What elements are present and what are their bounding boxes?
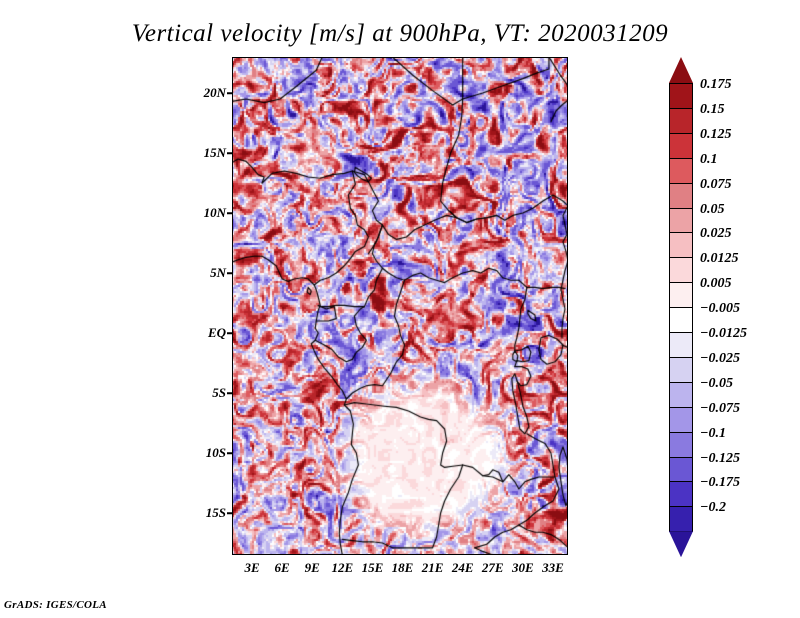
longitude-axis-labels: 3E6E9E12E15E18E21E24E27E30E33E [232,560,568,580]
colorbar-tick-label-9: −0.005 [700,301,740,317]
colorbar-min-arrow [669,531,693,557]
colorbar-tick-label-17: −0.2 [700,500,726,516]
latitude-tick-10s [227,452,232,454]
colorbar-block-6 [669,232,693,258]
colorbar-tick-label-7: 0.0125 [700,251,739,267]
colorbar-block-12 [669,382,693,408]
longitude-label-24e: 24E [452,560,474,576]
colorbar-tick-label-2: 0.125 [700,127,732,143]
colorbar-tick-label-11: −0.025 [700,351,740,367]
colorbar-block-7 [669,257,693,283]
latitude-label-5s: 5S [212,385,226,401]
latitude-label-eq: EQ [208,325,226,341]
colorbar-tick-label-1: 0.15 [700,102,725,118]
colorbar-block-0 [669,83,693,109]
colorbar-block-17 [669,506,693,532]
longitude-label-33e: 33E [542,560,564,576]
latitude-axis-labels: 20N15N10N5NEQ5S10S15S [196,57,226,555]
colorbar-block-11 [669,357,693,383]
latitude-tick-5s [227,392,232,394]
latitude-label-10s: 10S [206,445,226,461]
longitude-label-21e: 21E [422,560,444,576]
latitude-tick-marks [232,57,238,555]
colorbar-tick-label-8: 0.005 [700,276,732,292]
colorbar-tick-label-12: −0.05 [700,376,733,392]
longitude-label-12e: 12E [331,560,353,576]
colorbar-block-16 [669,481,693,507]
latitude-label-10n: 10N [204,205,226,221]
latitude-tick-eq [227,332,232,334]
colorbar-tick-label-6: 0.025 [700,226,732,242]
colorbar-block-1 [669,108,693,134]
colorbar-block-4 [669,183,693,209]
colorbar-block-3 [669,158,693,184]
latitude-label-15s: 15S [206,505,226,521]
latitude-tick-15s [227,512,232,514]
latitude-label-15n: 15N [204,145,226,161]
colorbar-block-13 [669,407,693,433]
colorbar-block-10 [669,332,693,358]
colorbar-tick-label-14: −0.1 [700,426,726,442]
latitude-tick-10n [227,212,232,214]
map-plot-area [232,57,568,555]
colorbar-tick-label-16: −0.175 [700,475,740,491]
longitude-label-18e: 18E [392,560,414,576]
colorbar [669,57,693,557]
longitude-label-15e: 15E [362,560,384,576]
colorbar-tick-label-10: −0.0125 [700,326,747,342]
colorbar-max-arrow [669,57,693,83]
colorbar-block-14 [669,432,693,458]
page-title: Vertical velocity [m/s] at 900hPa, VT: 2… [0,20,800,48]
grads-credit: GrADS: IGES/COLA [4,599,107,611]
colorbar-tick-label-15: −0.125 [700,451,740,467]
latitude-tick-20n [227,92,232,94]
colorbar-tick-label-5: 0.05 [700,202,725,218]
colorbar-block-9 [669,307,693,333]
longitude-label-30e: 30E [512,560,534,576]
longitude-label-6e: 6E [275,560,290,576]
longitude-label-3e: 3E [244,560,259,576]
colorbar-tick-label-3: 0.1 [700,152,718,168]
longitude-label-9e: 9E [305,560,320,576]
longitude-label-27e: 27E [482,560,504,576]
latitude-tick-15n [227,152,232,154]
colorbar-block-5 [669,208,693,234]
colorbar-block-2 [669,133,693,159]
colorbar-block-15 [669,457,693,483]
colorbar-tick-label-0: 0.175 [700,77,732,93]
latitude-tick-5n [227,272,232,274]
latitude-label-5n: 5N [210,265,226,281]
colorbar-tick-label-13: −0.075 [700,401,740,417]
latitude-label-20n: 20N [204,85,226,101]
colorbar-block-8 [669,282,693,308]
vertical-velocity-heatmap [232,57,568,555]
colorbar-tick-label-4: 0.075 [700,177,732,193]
